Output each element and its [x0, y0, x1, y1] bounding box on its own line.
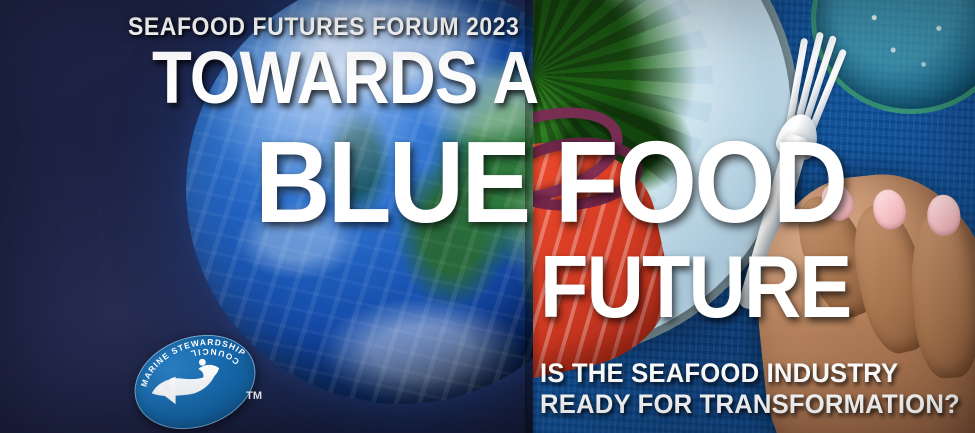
- seafood-futures-forum-banner: SEAFOOD FUTURES FORUM 2023 TOWARDS A BLU…: [0, 0, 975, 433]
- tagline-line-2: READY FOR TRANSFORMATION?: [540, 389, 960, 420]
- tagline-line-1: IS THE SEAFOOD INDUSTRY: [540, 358, 960, 389]
- msc-logo-artwork: MARINE STEWARDSHIP COUNCIL: [128, 331, 268, 431]
- msc-logo[interactable]: MARINE STEWARDSHIP COUNCIL TM: [128, 331, 268, 431]
- headline-line-towards-a: TOWARDS A: [152, 41, 538, 115]
- headline-line-future: FUTURE: [540, 243, 850, 331]
- tagline: IS THE SEAFOOD INDUSTRY READY FOR TRANSF…: [540, 358, 960, 421]
- headline-line-blue-food: BLUE FOOD: [255, 124, 845, 240]
- fish-eye-icon: [198, 358, 207, 367]
- trademark-symbol: TM: [246, 390, 262, 402]
